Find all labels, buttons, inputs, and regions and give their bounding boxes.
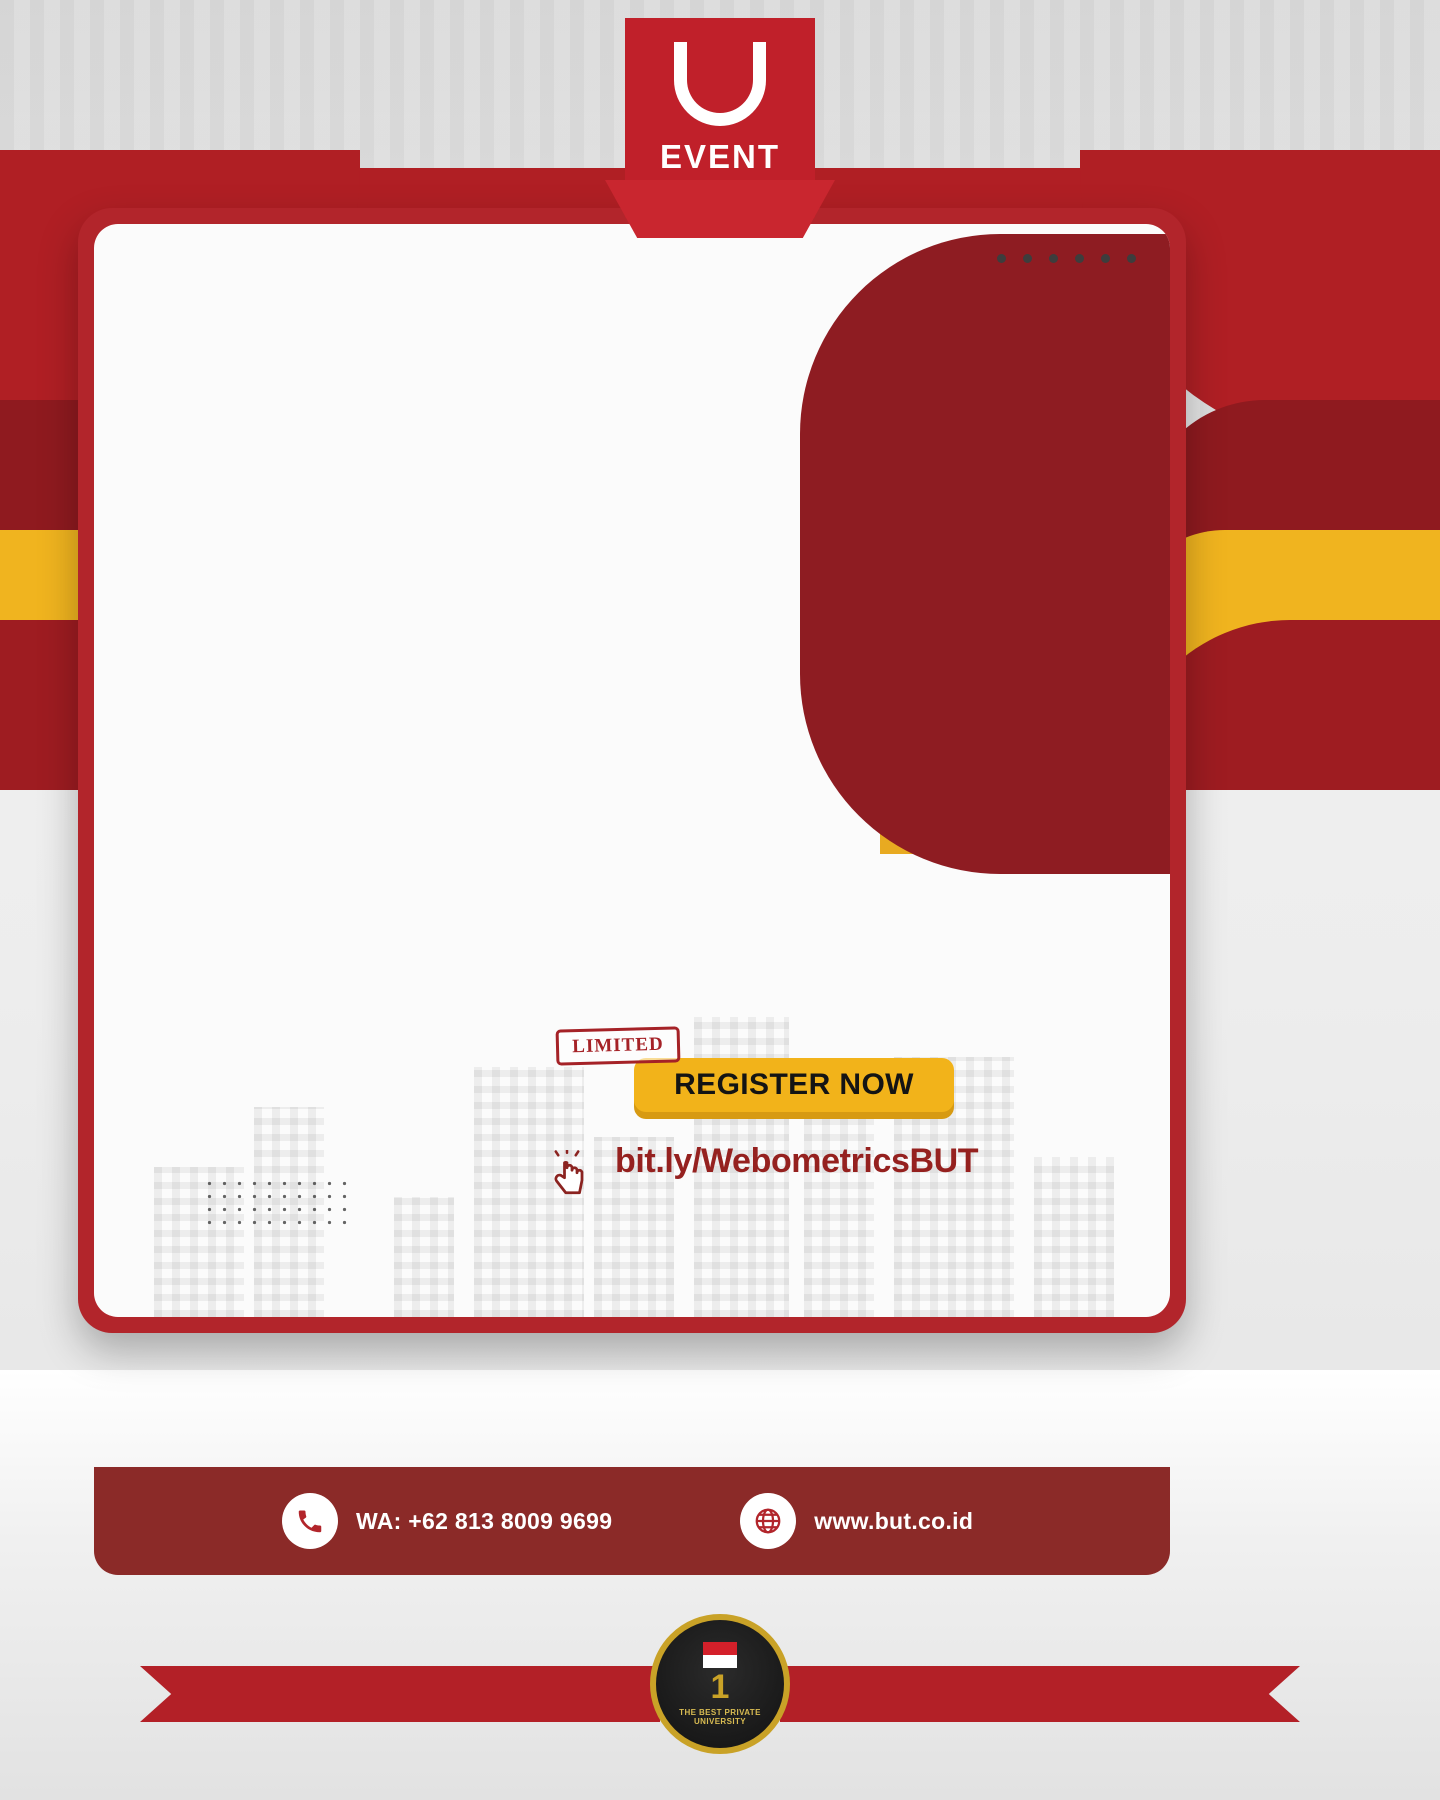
limited-stamp: LIMITED bbox=[556, 1026, 681, 1065]
phone-icon bbox=[282, 1493, 338, 1549]
globe-icon bbox=[740, 1493, 796, 1549]
contact-whatsapp[interactable]: WA: +62 813 8009 9699 bbox=[282, 1493, 612, 1549]
emblem-seal-icon: 1 THE BEST PRIVATE UNIVERSITY bbox=[650, 1614, 790, 1754]
event-label: EVENT bbox=[590, 138, 850, 176]
registration-link[interactable]: bit.ly/WebometricsBUT bbox=[615, 1142, 978, 1181]
flag-icon bbox=[703, 1642, 737, 1668]
event-book-shape bbox=[605, 180, 835, 238]
university-emblem: 1 THE BEST PRIVATE UNIVERSITY bbox=[650, 1614, 790, 1754]
contact-footer: WA: +62 813 8009 9699 www.but.co.id bbox=[94, 1467, 1170, 1575]
u-logo-icon bbox=[674, 42, 766, 126]
emblem-caption: THE BEST PRIVATE UNIVERSITY bbox=[656, 1708, 784, 1726]
whatsapp-text: WA: +62 813 8009 9699 bbox=[356, 1508, 612, 1535]
click-hand-icon bbox=[552, 1150, 592, 1198]
website-text: www.but.co.id bbox=[814, 1508, 973, 1535]
event-header: EVENT bbox=[590, 0, 850, 176]
decor-swoosh bbox=[750, 224, 1170, 944]
register-now-button[interactable]: REGISTER NOW bbox=[634, 1058, 954, 1112]
emblem-rank: 1 bbox=[711, 1670, 730, 1704]
contact-website[interactable]: www.but.co.id bbox=[740, 1493, 973, 1549]
decor-dot-grid bbox=[202, 1177, 352, 1229]
skyline-watermark bbox=[94, 897, 1170, 1317]
decor-dot-row bbox=[997, 254, 1136, 263]
